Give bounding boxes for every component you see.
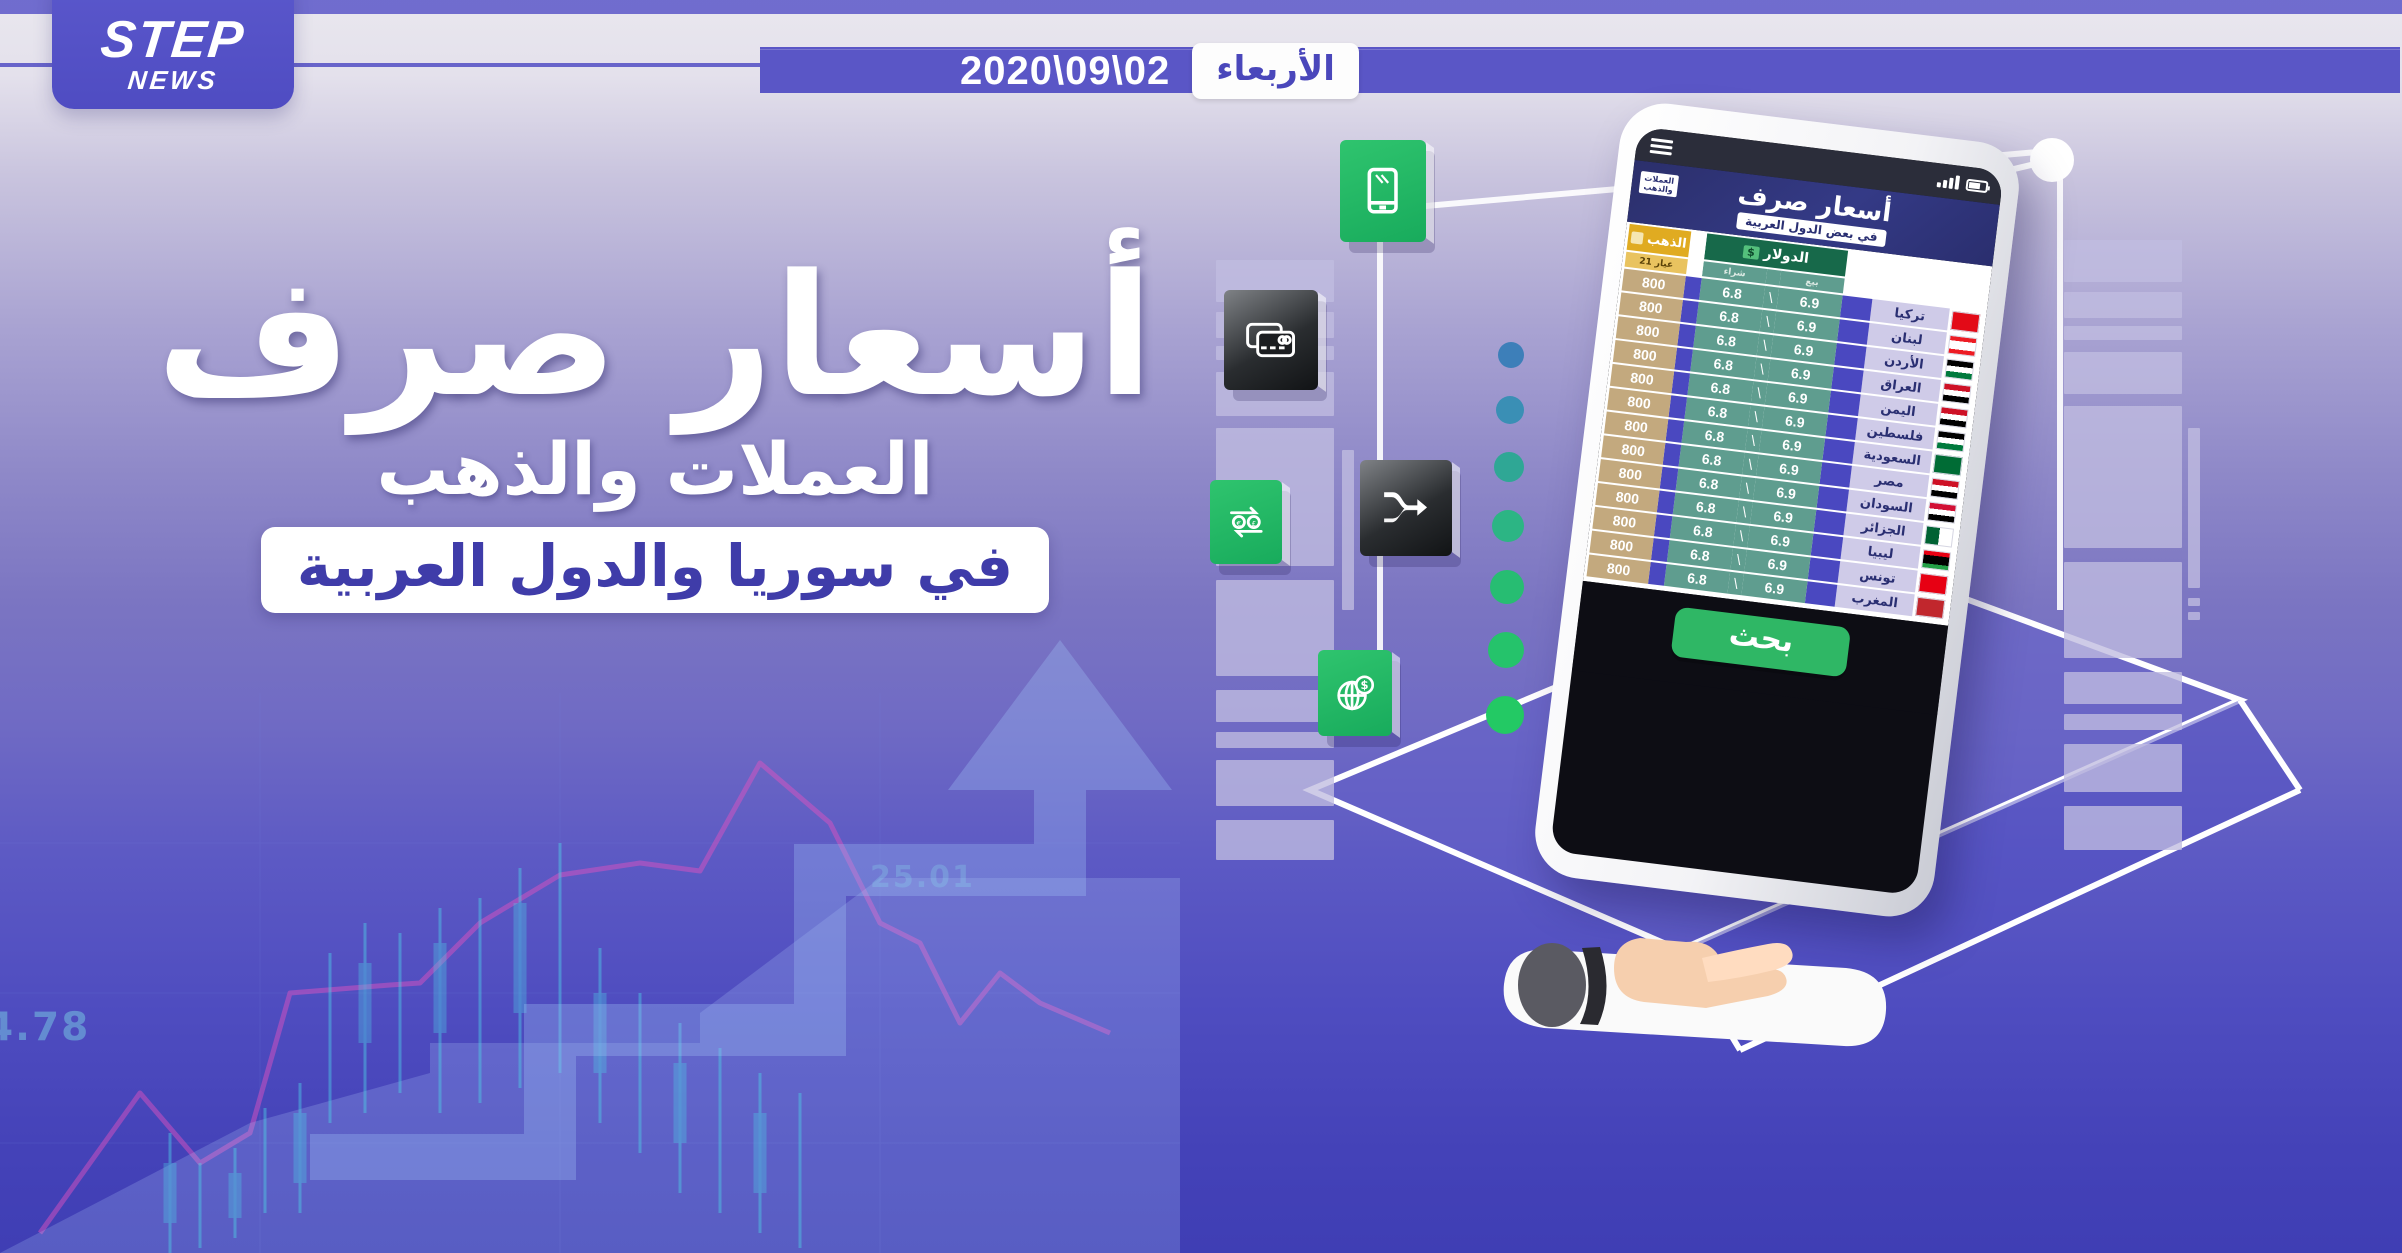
flag-lebanon [1947,334,1977,356]
date-text: 2020\09\02 [960,49,1170,94]
flag-turkey [1950,310,1980,332]
dollar-symbol: $ [1743,245,1760,260]
flag-iraq [1942,382,1972,404]
poster-canvas: 4.78 25.01 2020\09\02 الأربعاء STEP NEWS… [0,0,2402,1253]
country-flag-cell [1930,451,1966,477]
rate-separator: \ [1727,572,1744,596]
credit-cards-icon[interactable] [1224,290,1318,390]
rate-separator: \ [1730,548,1747,572]
progress-dot-2 [1496,396,1524,424]
country-flag-cell [1912,594,1948,620]
flag-tunisia [1918,572,1948,594]
country-flag-cell [1915,571,1951,597]
flag-morocco [1915,596,1945,618]
page-title: أسعار صرف [60,250,1250,423]
progress-dot-4 [1492,510,1524,542]
rate-separator: \ [1733,524,1750,548]
pointing-hand [1490,830,1960,1060]
country-flag-cell [1933,428,1969,454]
mobile-phone-icon[interactable] [1340,140,1426,242]
country-flag-cell [1941,356,1977,382]
chart-value-left: 4.78 [0,1005,90,1050]
signal-bars-icon [1937,173,1961,190]
svg-text:€: € [1236,519,1241,528]
flag-yemen [1939,406,1969,428]
rate-separator: \ [1742,453,1759,477]
progress-dot-5 [1490,570,1524,604]
rate-separator: \ [1763,286,1780,310]
header-band [0,0,2402,14]
decor-panel-right [2058,200,2188,840]
rate-separator: \ [1736,500,1753,524]
rising-arrow-graphic [300,640,1360,1180]
gold-label: الذهب [1646,232,1687,252]
rate-separator: \ [1745,429,1762,453]
progress-dot-1 [1498,342,1524,368]
table-body: تركيا6.9\6.8800لبنان6.9\6.8800الأردن6.9\… [1587,269,1984,621]
flag-sudan [1927,501,1957,523]
page-subtitle: العملات والذهب [60,427,1250,511]
globe-dollar-icon[interactable]: $ [1318,650,1392,736]
illustration: € £ $ [1240,90,2402,1170]
country-flag-cell [1935,404,1971,430]
rate-separator: \ [1739,476,1756,500]
phone-screen: العملات والذهب أسعار صرف في بعض الدول ال… [1550,126,2004,895]
flag-jordan [1944,358,1974,380]
hamburger-menu-icon[interactable] [1649,134,1673,158]
logo-step-text: STEP [98,16,247,65]
flag-algeria [1924,525,1954,547]
rate-separator: \ [1751,381,1768,405]
rate-separator: \ [1757,334,1774,358]
progress-dot-3 [1494,452,1524,482]
country-flag-cell [1944,332,1980,358]
flag-libya [1921,549,1951,571]
progress-dot-7 [1486,696,1524,734]
svg-text:£: £ [1251,519,1256,528]
flag-egypt [1930,477,1960,499]
progress-dot-6 [1488,632,1524,668]
headline-block: أسعار صرف العملات والذهب في سوريا والدول… [60,250,1250,613]
svg-text:$: $ [1361,678,1369,692]
page-scope-badge: في سوريا والدول العربية [261,527,1049,613]
shuffle-arrows-icon[interactable] [1360,460,1452,556]
country-flag-cell [1938,380,1974,406]
gold-bar-icon [1631,231,1644,244]
flag-saudi-arabia [1933,453,1963,475]
rate-separator: \ [1748,405,1765,429]
rates-table: الدولار $ الذهب [1583,222,1992,626]
dollar-label: الدولار [1763,246,1810,267]
currency-exchange-icon[interactable]: € £ [1210,480,1282,564]
flag-palestine [1936,430,1966,452]
country-flag-cell [1927,475,1963,501]
rate-separator: \ [1760,310,1777,334]
country-flag-cell [1947,309,1983,335]
logo-news-text: NEWS [127,67,220,93]
search-button[interactable]: بحث [1670,606,1851,677]
country-flag-cell [1921,523,1957,549]
rate-separator: \ [1754,357,1771,381]
country-flag-cell [1918,547,1954,573]
battery-icon [1965,179,1988,194]
step-news-logo[interactable]: STEP NEWS [52,0,294,109]
country-flag-cell [1924,499,1960,525]
